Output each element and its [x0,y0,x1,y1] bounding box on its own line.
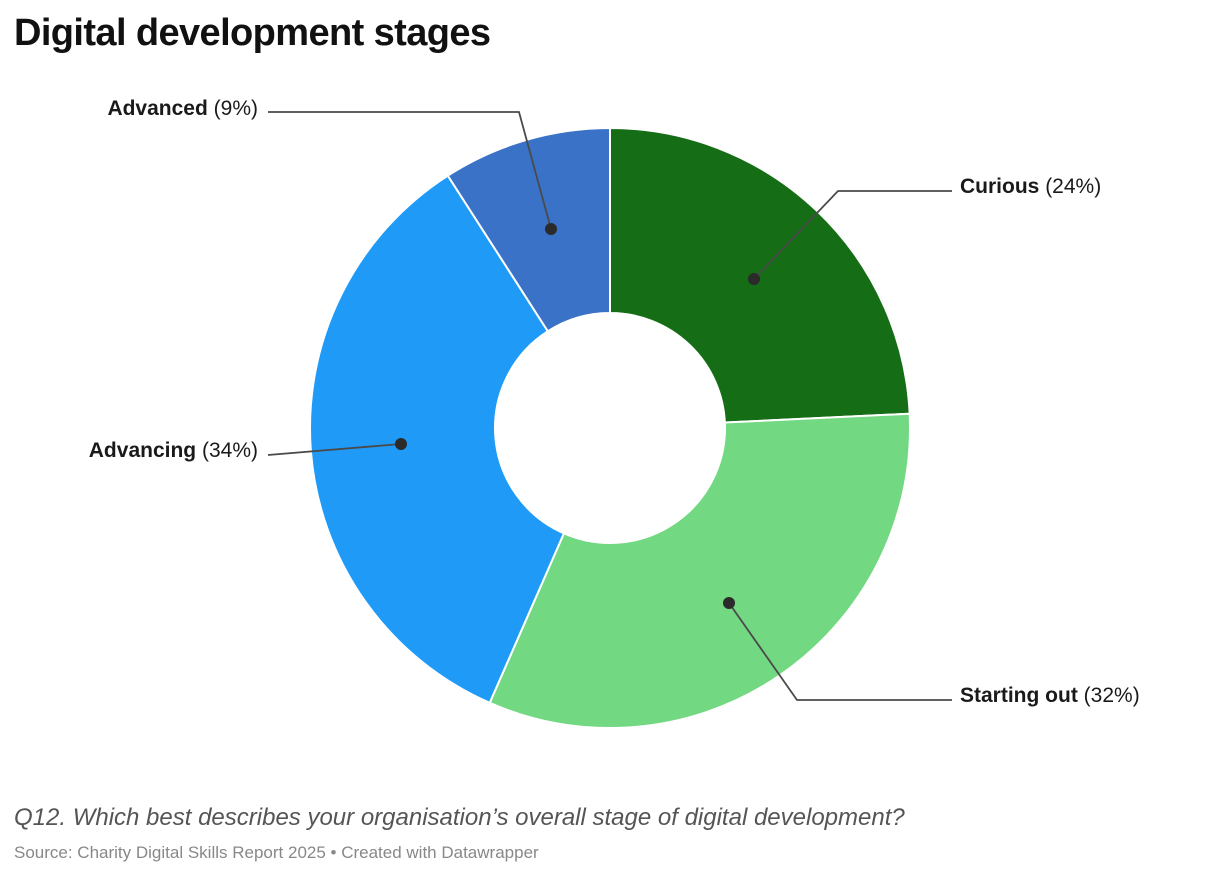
slice-label-starting-out: Starting out (32%) [960,685,1140,706]
slice-label-curious-percent: (24%) [1045,175,1101,198]
slice-label-advanced-name: Advanced [107,97,207,120]
slice-label-advanced-percent: (9%) [214,97,258,120]
slice-label-advancing-percent: (34%) [202,439,258,462]
slice-label-starting-out-percent: (32%) [1084,684,1140,707]
leader-dot-curious [748,273,760,285]
slice-starting-out[interactable] [490,414,910,728]
slice-label-advancing: Advancing (34%) [89,440,258,461]
leader-dot-advanced [545,223,557,235]
leader-dot-advancing [395,438,407,450]
donut-slices [310,128,910,728]
leader-dot-starting-out [723,597,735,609]
donut-svg [0,0,1220,800]
slice-curious[interactable] [610,128,910,423]
slice-label-advanced: Advanced (9%) [107,98,258,119]
slice-label-curious-name: Curious [960,175,1039,198]
footer-question: Q12. Which best describes your organisat… [14,802,1206,834]
slice-label-starting-out-name: Starting out [960,684,1078,707]
slice-label-curious: Curious (24%) [960,176,1101,197]
chart-footer: Q12. Which best describes your organisat… [14,802,1206,864]
slice-label-advancing-name: Advancing [89,439,196,462]
donut-chart: Curious (24%) Starting out (32%) Advanci… [0,0,1220,800]
footer-source: Source: Charity Digital Skills Report 20… [14,842,1206,864]
